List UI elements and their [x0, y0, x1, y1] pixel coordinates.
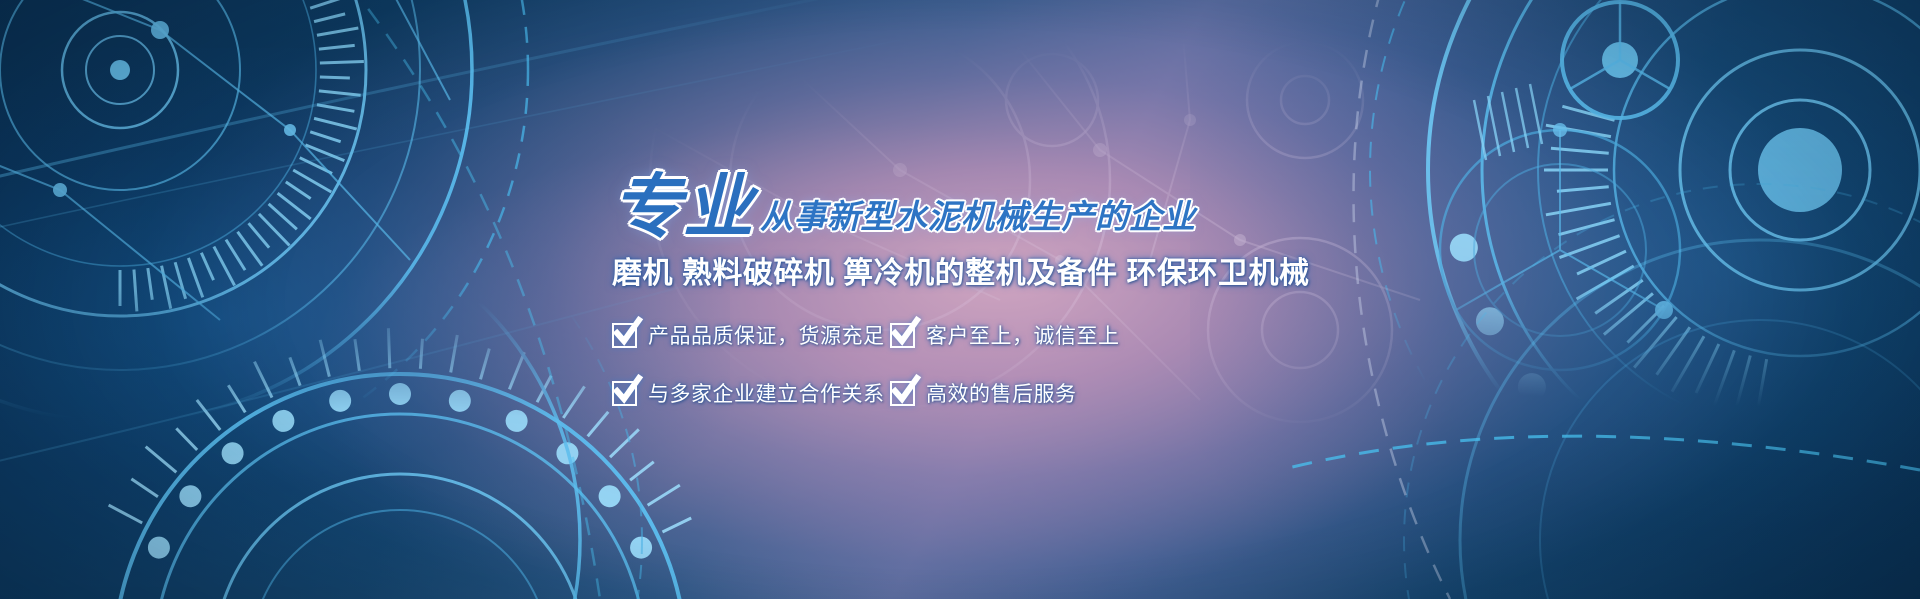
feature-label: 与多家企业建立合作关系 — [648, 378, 885, 408]
checkbox-frame — [612, 381, 637, 406]
feature-item: 客户至上，诚信至上 — [890, 320, 1372, 350]
headline-secondary: 从事新型水泥机械生产的企业 — [760, 200, 1196, 239]
hero-banner: 专业 从事新型水泥机械生产的企业 磨机 熟料破碎机 箅冷机的整机及备件 环保环卫… — [0, 0, 1920, 599]
checkmark-icon — [889, 375, 921, 407]
product-list-subline: 磨机 熟料破碎机 箅冷机的整机及备件 环保环卫机械 — [612, 257, 1372, 290]
feature-item: 高效的售后服务 — [890, 378, 1372, 408]
feature-item: 产品品质保证，货源充足 — [612, 320, 880, 350]
headline-primary: 专业 — [612, 174, 754, 241]
checkbox-frame — [612, 323, 637, 348]
checkbox-frame — [890, 381, 915, 406]
feature-item: 与多家企业建立合作关系 — [612, 378, 880, 408]
checkmark-icon — [889, 317, 921, 349]
feature-list: 产品品质保证，货源充足 客户至上，诚信至上 与多家企业建立合作关系 — [612, 320, 1372, 408]
checkmark-icon — [611, 317, 643, 349]
feature-label: 客户至上，诚信至上 — [926, 320, 1120, 350]
checkmark-icon — [611, 375, 643, 407]
feature-label: 产品品质保证，货源充足 — [648, 320, 885, 350]
headline-row: 专业 从事新型水泥机械生产的企业 — [612, 163, 1372, 239]
feature-label: 高效的售后服务 — [926, 378, 1077, 408]
checkbox-frame — [890, 323, 915, 348]
banner-content: 专业 从事新型水泥机械生产的企业 磨机 熟料破碎机 箅冷机的整机及备件 环保环卫… — [612, 163, 1372, 408]
